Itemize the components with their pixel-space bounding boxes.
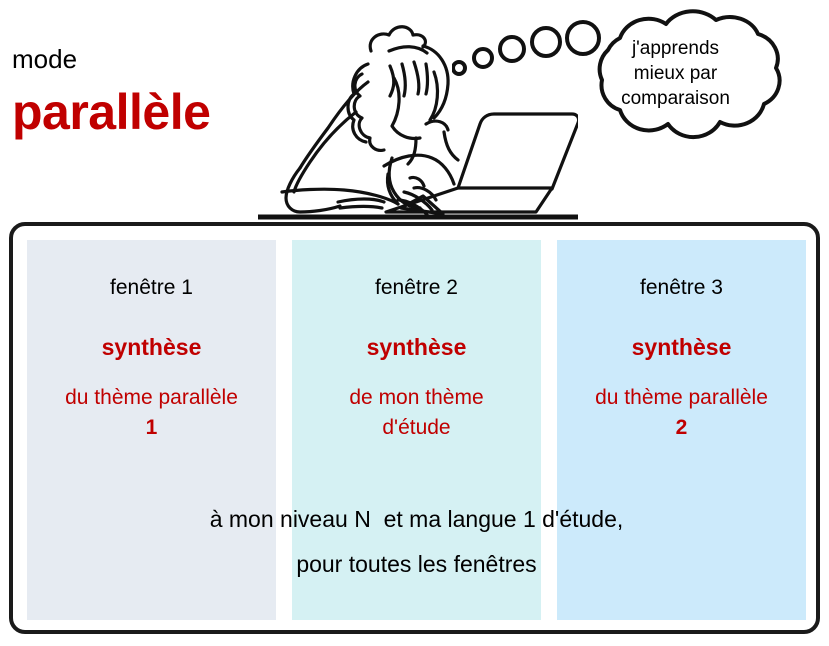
window-3-subtitle: du thème parallèle 2 [557,383,806,443]
bubble-dot-1 [453,62,465,74]
window-2-subtitle-number: d'étude [292,413,541,443]
header-area: mode parallèle [0,0,829,222]
window-2-subtitle-line: de mon thème [292,383,541,413]
window-2-synthese-label: synthèse [292,334,541,361]
thought-bubble-text: j'apprends mieux par comparaison [578,36,773,111]
window-column-2[interactable]: fenêtre 2 synthèse de mon thème d'étude [292,240,541,620]
window-1-subtitle: du thème parallèle 1 [27,383,276,443]
windows-panel: fenêtre 1 synthèse du thème parallèle 1 … [9,222,820,634]
window-3-synthese-label: synthèse [557,334,806,361]
window-2-subtitle: de mon thème d'étude [292,383,541,443]
thought-bubble-line-3: comparaison [578,86,773,111]
bubble-dot-4 [532,28,560,56]
bubble-dot-2 [474,49,492,67]
window-1-subtitle-number: 1 [27,413,276,443]
window-2-header: fenêtre 2 [292,276,541,300]
window-3-subtitle-number: 2 [557,413,806,443]
window-1-subtitle-line: du thème parallèle [27,383,276,413]
window-column-3[interactable]: fenêtre 3 synthèse du thème parallèle 2 [557,240,806,620]
page-title: parallèle [12,83,210,141]
windows-columns: fenêtre 1 synthèse du thème parallèle 1 … [27,240,806,620]
thought-bubble: j'apprends mieux par comparaison [452,8,829,173]
thought-bubble-line-1: j'apprends [578,36,773,61]
window-column-1[interactable]: fenêtre 1 synthèse du thème parallèle 1 [27,240,276,620]
window-1-synthese-label: synthèse [27,334,276,361]
mode-label: mode [12,44,77,75]
window-1-header: fenêtre 1 [27,276,276,300]
window-3-header: fenêtre 3 [557,276,806,300]
window-3-subtitle-line: du thème parallèle [557,383,806,413]
thought-bubble-line-2: mieux par [578,61,773,86]
bubble-dot-3 [500,37,524,61]
